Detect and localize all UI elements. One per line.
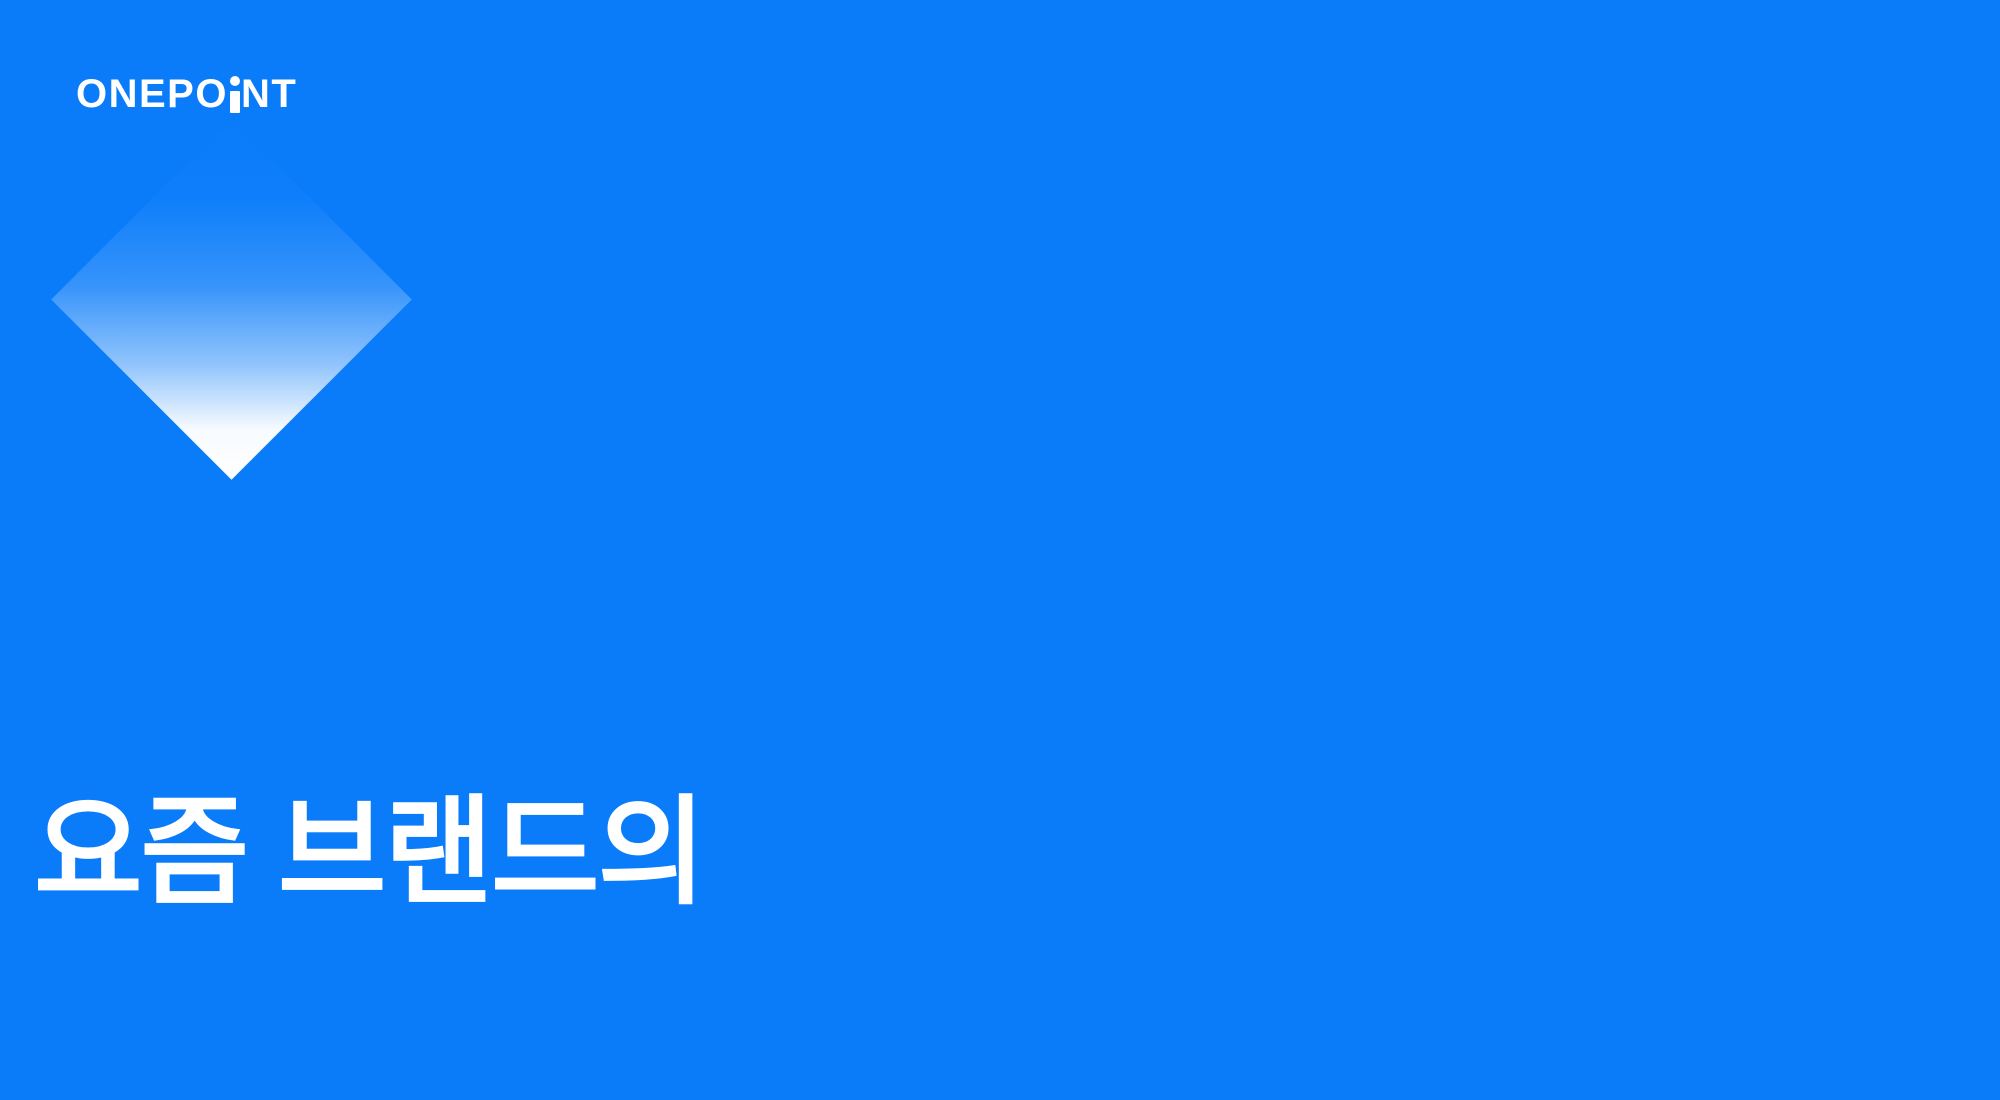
brand-logo[interactable]: ONEPO NT <box>76 70 297 114</box>
brand-logo-suffix: NT <box>241 74 297 114</box>
brand-logo-prefix: ONEPO <box>76 74 228 114</box>
slide-canvas: ONEPO NT 요즘 브랜드의 자사몰 집중 전략, 이유는? <box>0 0 2000 1100</box>
headline: 요즘 브랜드의 자사몰 집중 전략, 이유는? <box>34 620 1734 1100</box>
headline-line-2: 자사몰 집중 전략, 이유는? <box>34 1087 1734 1100</box>
brand-logo-dotted-i-icon <box>228 74 241 114</box>
gradient-diamond-shape <box>51 119 412 480</box>
headline-line-1: 요즘 브랜드의 <box>34 776 1734 932</box>
